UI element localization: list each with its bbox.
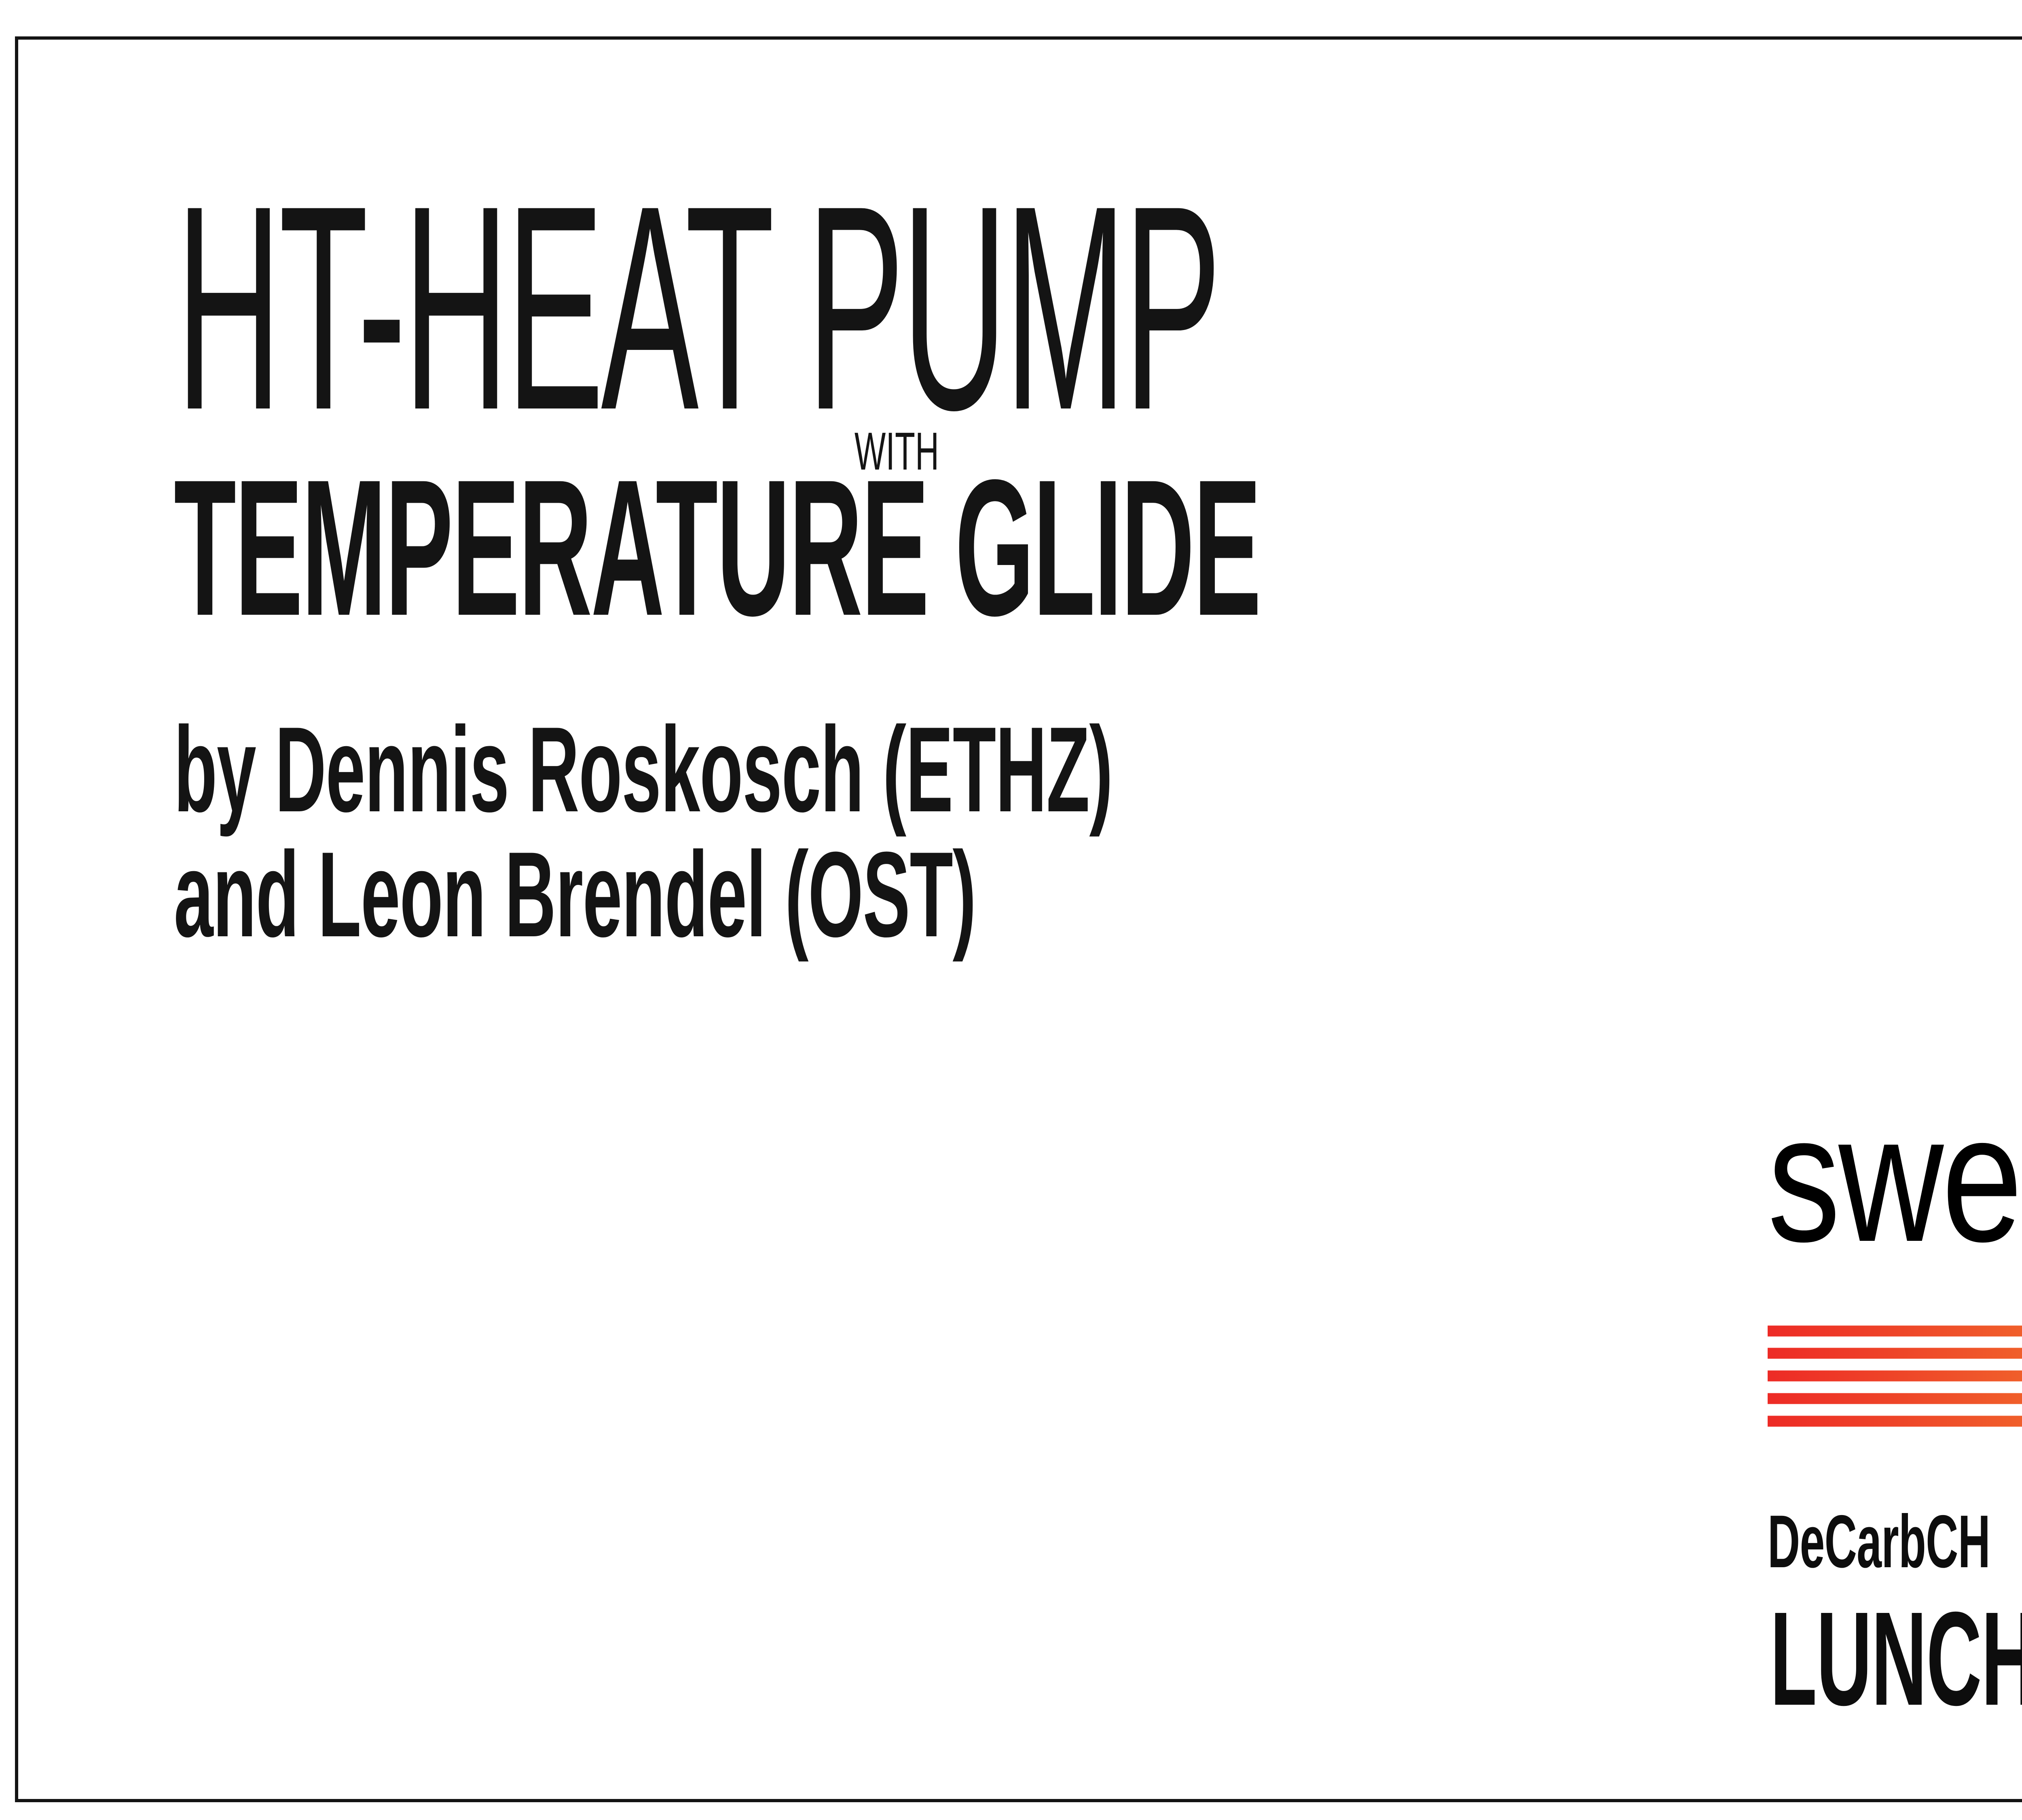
sweet-wordmark: sweet	[1768, 1087, 2022, 1269]
slide-frame: HT-HEAT PUMP WITH TEMPERATURE GLIDE by D…	[15, 36, 2022, 1802]
sweet-logo: sweet swiss energy research for the ener…	[1768, 1099, 2022, 1605]
author-line-1: by Dennis Roskosch (ETHZ)	[174, 707, 1113, 832]
page-title: HT-HEAT PUMP	[176, 203, 1218, 413]
authors-block: by Dennis Roskosch (ETHZ) and Leon Brend…	[174, 707, 1113, 957]
author-line-2: and Leon Brendel (OST)	[174, 832, 1113, 957]
series-label: LUNCH TALKS SERIES	[1770, 1592, 2022, 1725]
page-subtitle: TEMPERATURE GLIDE	[174, 476, 1260, 619]
decarbch-label: DeCarbCH	[1768, 1505, 1990, 1579]
energy-transition-arrows	[1768, 1320, 2022, 1453]
